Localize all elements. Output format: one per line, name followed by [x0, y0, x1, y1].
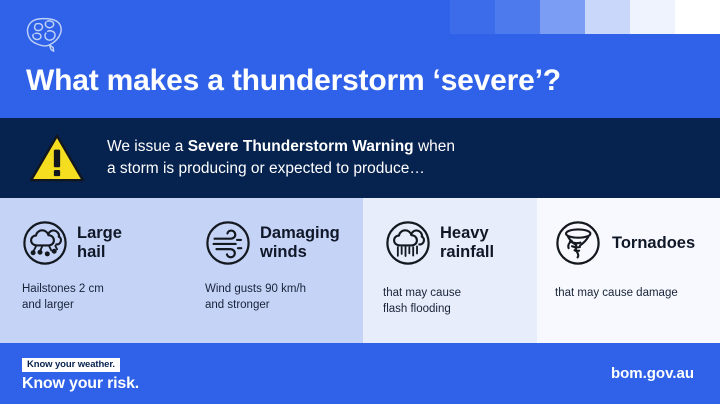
australia-map-logo: [22, 14, 68, 54]
card-header: Damaging winds: [183, 220, 363, 266]
banner-text: We issue a Severe Thunderstorm Warning w…: [107, 136, 455, 181]
card-subtitle-line-1: that may cause damage: [555, 285, 710, 301]
card-title-line-1: Tornadoes: [612, 234, 695, 253]
card-title-line-1: Large: [77, 224, 122, 243]
card-title-line-1: Damaging: [260, 224, 340, 243]
card-title: Tornadoes: [612, 234, 695, 253]
rain-cloud-icon: [385, 220, 431, 266]
deco-block-7: [675, 0, 720, 34]
card-subtitle: that may cause damage: [537, 285, 720, 301]
website-url[interactable]: bom.gov.au: [611, 365, 694, 382]
card-subtitle-line-2: and larger: [22, 297, 173, 313]
card-title: Heavy rainfall: [440, 224, 494, 262]
wind-gust-icon: [205, 220, 251, 266]
card-subtitle: that may cause flash flooding: [363, 285, 537, 318]
tagline: Know your weather. Know your risk.: [22, 355, 139, 393]
deco-block-4: [540, 0, 585, 34]
footer: Know your weather. Know your risk. bom.g…: [0, 343, 720, 404]
hazard-cards: Large hail Hailstones 2 cm and larger: [0, 198, 720, 343]
banner-line-1: We issue a Severe Thunderstorm Warning w…: [107, 136, 455, 158]
card-title-line-2: rainfall: [440, 243, 494, 262]
banner-line1-post: when: [414, 138, 455, 155]
severe-thunderstorm-infographic: What makes a thunderstorm ‘severe’? We i…: [0, 0, 720, 404]
hazard-card-tornadoes: Tornadoes that may cause damage: [537, 198, 720, 343]
card-title-line-2: winds: [260, 243, 340, 262]
card-subtitle-line-1: that may cause: [383, 285, 527, 301]
card-header: Large hail: [0, 220, 183, 266]
card-subtitle-line-1: Hailstones 2 cm: [22, 281, 173, 297]
hazard-card-large-hail: Large hail Hailstones 2 cm and larger: [0, 198, 183, 343]
header: What makes a thunderstorm ‘severe’?: [0, 0, 720, 118]
card-header: Heavy rainfall: [363, 220, 537, 266]
banner-line1-pre: We issue a: [107, 138, 188, 155]
hazard-card-damaging-winds: Damaging winds Wind gusts 90 km/h and st…: [183, 198, 363, 343]
banner-line-2: a storm is producing or expected to prod…: [107, 158, 455, 180]
card-header: Tornadoes: [537, 220, 720, 266]
tagline-bottom: Know your risk.: [22, 376, 139, 392]
banner-line1-bold: Severe Thunderstorm Warning: [188, 138, 414, 155]
deco-block-3: [495, 0, 540, 34]
card-subtitle-line-1: Wind gusts 90 km/h: [205, 281, 353, 297]
card-title: Large hail: [77, 224, 122, 262]
deco-block-6: [630, 0, 675, 34]
warning-triangle-icon: [29, 133, 85, 183]
card-title-line-1: Heavy: [440, 224, 494, 243]
decorative-blocks: [405, 0, 720, 34]
hazard-card-heavy-rainfall: Heavy rainfall that may cause flash floo…: [363, 198, 537, 343]
deco-block-2: [450, 0, 495, 34]
card-subtitle: Wind gusts 90 km/h and stronger: [183, 281, 363, 314]
card-subtitle: Hailstones 2 cm and larger: [0, 281, 183, 314]
deco-block-5: [585, 0, 630, 34]
card-subtitle-line-2: and stronger: [205, 297, 353, 313]
deco-block-1: [405, 0, 450, 34]
warning-banner: We issue a Severe Thunderstorm Warning w…: [0, 118, 720, 198]
card-title: Damaging winds: [260, 224, 340, 262]
card-subtitle-line-2: flash flooding: [383, 301, 527, 317]
card-title-line-2: hail: [77, 243, 122, 262]
hail-cloud-icon: [22, 220, 68, 266]
tornado-icon: [555, 220, 601, 266]
tagline-top: Know your weather.: [22, 358, 120, 373]
page-title: What makes a thunderstorm ‘severe’?: [26, 64, 561, 98]
